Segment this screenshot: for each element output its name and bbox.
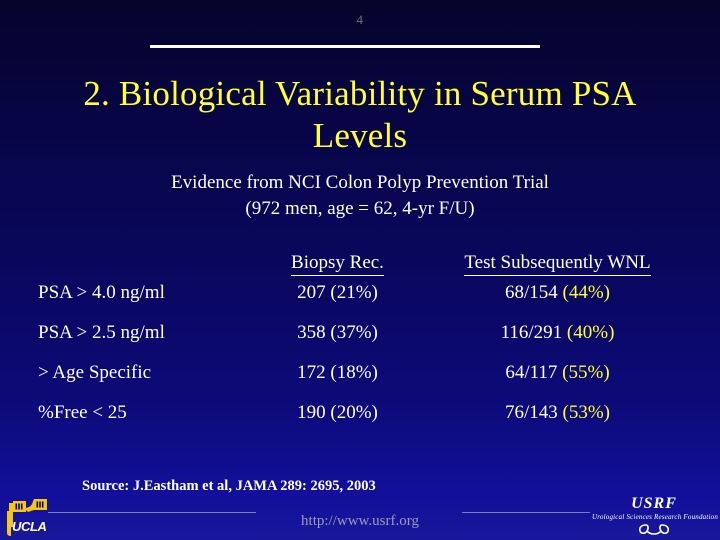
row-wnl-count: 76/143: [505, 402, 558, 423]
row-wnl-count: 64/117: [505, 362, 557, 383]
row-biopsy-value: 172 (18%): [250, 362, 425, 402]
row-wnl-percent: (40%): [567, 322, 614, 343]
row-wnl-value: 64/117 (55%): [425, 362, 690, 402]
row-wnl-count: 116/291: [501, 322, 563, 343]
usrf-swirl-icon: [637, 522, 671, 536]
usrf-logo: USRF Urological Sciences Research Founda…: [592, 496, 716, 540]
row-wnl-value: 68/154 (44%): [425, 282, 690, 322]
row-wnl-percent: (44%): [563, 282, 610, 303]
source-suffix: 2695, 2003: [307, 478, 376, 494]
source-citation: Source: J.Eastham et al, JAMA 289: 2695,…: [82, 478, 376, 495]
usrf-logo-mark: [592, 522, 716, 539]
row-biopsy-value: 207 (21%): [250, 282, 425, 322]
row-wnl-percent: (55%): [562, 362, 609, 383]
slide-canvas: 4 2. Biological Variability in Serum PSA…: [0, 0, 720, 540]
row-criterion: %Free < 25: [38, 402, 250, 442]
table-row: PSA > 2.5 ng/ml 358 (37%) 116/291 (40%): [38, 322, 690, 362]
page-number: 4: [0, 12, 720, 28]
source-prefix: Source: J.Eastham et al, JAMA: [82, 478, 280, 494]
row-wnl-value: 76/143 (53%): [425, 402, 690, 442]
svg-text:UCLA: UCLA: [12, 519, 47, 534]
ucla-logo-icon: UCLA: [6, 497, 58, 537]
usrf-logo-name: USRF: [592, 496, 716, 512]
row-criterion: > Age Specific: [38, 362, 250, 402]
ucla-logo: UCLA: [6, 497, 58, 537]
row-wnl-count: 68/154: [505, 282, 558, 303]
table-row: > Age Specific 172 (18%) 64/117 (55%): [38, 362, 690, 402]
table-row: %Free < 25 190 (20%) 76/143 (53%): [38, 402, 690, 442]
table-body: PSA > 4.0 ng/ml 207 (21%) 68/154 (44%) P…: [38, 282, 690, 442]
column-header-biopsy-label: Biopsy Rec.: [291, 252, 384, 276]
row-wnl-percent: (53%): [563, 402, 610, 423]
row-wnl-value: 116/291 (40%): [425, 322, 690, 362]
table-header-row: Biopsy Rec. Test Subsequently WNL: [38, 252, 690, 282]
column-header-biopsy: Biopsy Rec.: [250, 252, 425, 282]
column-header-wnl-label: Test Subsequently WNL: [464, 252, 650, 276]
row-criterion: PSA > 4.0 ng/ml: [38, 282, 250, 322]
table-row: PSA > 4.0 ng/ml 207 (21%) 68/154 (44%): [38, 282, 690, 322]
row-biopsy-value: 190 (20%): [250, 402, 425, 442]
subtitle-line-2: (972 men, age = 62, 4-yr F/U): [40, 196, 680, 222]
subtitle-line-1: Evidence from NCI Colon Polyp Prevention…: [40, 170, 680, 196]
row-biopsy-value: 358 (37%): [250, 322, 425, 362]
title-divider-rule: [150, 45, 540, 48]
subtitle: Evidence from NCI Colon Polyp Prevention…: [40, 170, 680, 222]
page-title: 2. Biological Variability in Serum PSA L…: [40, 73, 680, 157]
column-header-criterion: [38, 252, 250, 282]
source-volume: 289:: [280, 478, 307, 494]
results-table: Biopsy Rec. Test Subsequently WNL PSA > …: [38, 252, 690, 442]
row-criterion: PSA > 2.5 ng/ml: [38, 322, 250, 362]
column-header-wnl: Test Subsequently WNL: [425, 252, 690, 282]
table-header: Biopsy Rec. Test Subsequently WNL: [38, 252, 690, 282]
